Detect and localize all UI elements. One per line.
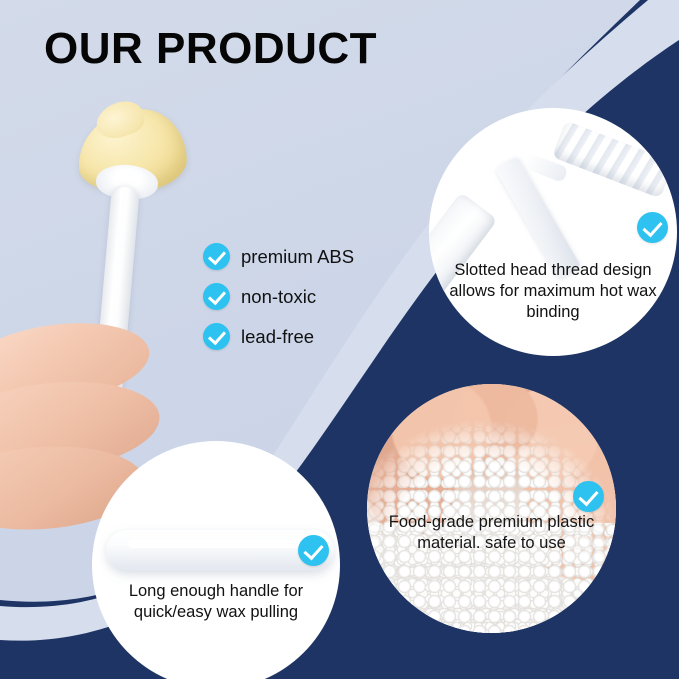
bullet-label: non-toxic (241, 286, 316, 308)
callout-caption-top-right: Slotted head thread design allows for ma… (429, 260, 677, 323)
page-title: OUR PRODUCT (44, 24, 377, 74)
callout-caption-bottom-left: Long enough handle for quick/easy wax pu… (92, 581, 340, 623)
list-item: lead-free (203, 323, 354, 350)
check-circle-icon (573, 481, 604, 512)
check-circle-icon (203, 283, 230, 310)
bullet-label: premium ABS (241, 246, 354, 268)
check-circle-icon (203, 323, 230, 350)
feature-bullet-list: premium ABS non-toxic lead-free (203, 243, 354, 363)
list-item: non-toxic (203, 283, 354, 310)
product-feature-poster: OUR PRODUCT premium ABS non-toxic lead-f… (0, 0, 679, 679)
bullet-label: lead-free (241, 326, 314, 348)
list-item: premium ABS (203, 243, 354, 270)
check-circle-icon (637, 212, 668, 243)
check-circle-icon (203, 243, 230, 270)
check-circle-icon (298, 535, 329, 566)
callout-caption-bottom-right: Food-grade premium plastic material. saf… (367, 512, 616, 554)
